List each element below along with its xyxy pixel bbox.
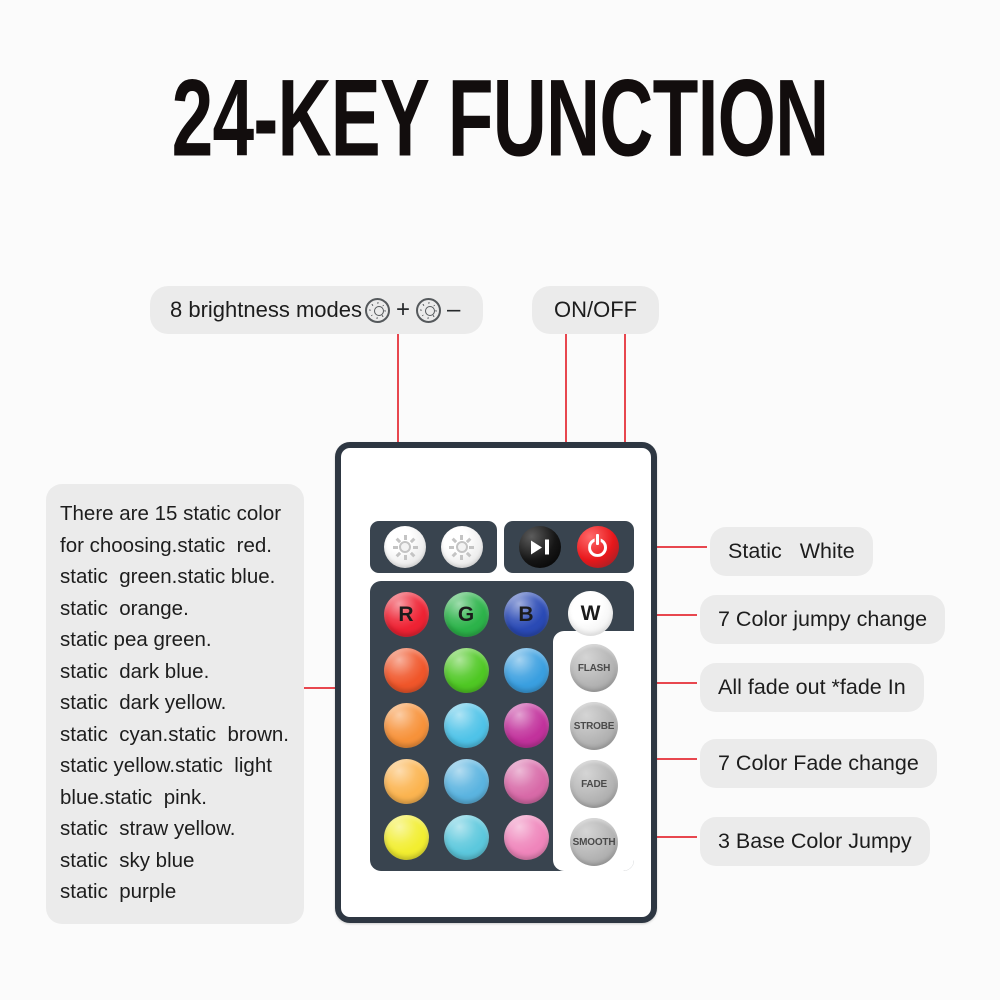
minus-sign: – [444,297,463,323]
callout-line: static cyan.static brown. [60,719,290,751]
color-key-cell: G [436,587,496,643]
power-icon-stem [596,534,599,545]
color-key-cell [436,698,496,754]
leader-line-onoff-a [565,334,567,442]
play-pause-key[interactable] [519,526,561,568]
color-key-cell [376,754,436,810]
flash-key[interactable]: FLASH [570,644,618,692]
color-key-cell [496,643,556,699]
callout-line: static dark blue. [60,656,290,688]
leader-line-onoff-b [624,334,626,442]
leader-line-7-color-fade [655,758,697,760]
leader-line-3-base-color-jumpy [655,836,697,838]
color-key-cell [436,809,496,865]
callout-static-colors: There are 15 static color for choosing.s… [46,484,304,924]
strobe-key[interactable]: STROBE [570,702,618,750]
color-key-straw-yellow[interactable] [384,759,429,804]
power-key[interactable] [577,526,619,568]
leader-line-brightness [397,334,399,442]
color-key-cell [376,643,436,699]
callout-line: static purple [60,876,290,908]
mode-key-column: FLASH STROBE FADE SMOOTH [563,644,625,866]
color-key-cell [496,698,556,754]
color-key-yellow[interactable] [384,815,429,860]
color-key-white[interactable]: W [568,591,613,636]
callout-line: There are 15 static color [60,498,290,530]
color-key-cell [376,809,436,865]
color-key-cell [376,698,436,754]
color-key-cell: R [376,587,436,643]
fade-key[interactable]: FADE [570,760,618,808]
callout-all-fade: All fade out *fade In [700,663,924,712]
color-key-sky-blue[interactable] [444,815,489,860]
color-key-red[interactable]: R [384,592,429,637]
color-key-cyan[interactable] [444,703,489,748]
color-key-pink[interactable] [504,815,549,860]
callout-line: static sky blue [60,845,290,877]
color-key-cell [496,809,556,865]
color-key-orange-red[interactable] [384,648,429,693]
callout-line: blue.static pink. [60,782,290,814]
color-key-cell [436,754,496,810]
leader-line-static-white [655,546,707,548]
brightness-key-panel [370,521,497,573]
callout-line: static dark yellow. [60,687,290,719]
play-pause-icon [531,540,549,555]
callout-line: static straw yellow. [60,813,290,845]
callout-line: static green.static blue. [60,561,290,593]
color-key-dark-blue[interactable] [504,648,549,693]
callout-static-white: Static White [710,527,873,576]
callout-3-base-color-jumpy: 3 Base Color Jumpy [700,817,930,866]
callout-7-color-jumpy: 7 Color jumpy change [700,595,945,644]
callout-line: for choosing.static red. [60,530,290,562]
callout-line: static pea green. [60,624,290,656]
color-key-cell: B [496,587,556,643]
color-key-light-blue[interactable] [444,759,489,804]
color-key-cell [496,754,556,810]
color-key-magenta[interactable] [504,759,549,804]
callout-line: static orange. [60,593,290,625]
leader-line-all-fade [655,682,697,684]
color-key-blue[interactable]: B [504,592,549,637]
color-key-purple[interactable] [504,703,549,748]
callout-7-color-fade: 7 Color Fade change [700,739,937,788]
color-key-orange[interactable] [384,703,429,748]
smooth-key[interactable]: SMOOTH [570,818,618,866]
callout-line: static yellow.static light [60,750,290,782]
color-key-grid: R G B [376,587,556,865]
callout-brightness-modes: 8 brightness modes + – [150,286,483,334]
brightness-up-key[interactable] [384,526,426,568]
color-key-pea-green[interactable] [444,648,489,693]
callout-on-off: ON/OFF [532,286,659,334]
plus-sign: + [393,297,413,323]
sun-icon [392,534,418,560]
color-key-green[interactable]: G [444,592,489,637]
power-key-panel [504,521,634,573]
brightness-down-icon [416,298,441,323]
sun-icon [449,534,475,560]
brightness-up-icon [365,298,390,323]
callout-brightness-text: 8 brightness modes [170,297,362,323]
brightness-down-key[interactable] [441,526,483,568]
page-title: 24-KEY FUNCTION [110,62,890,176]
color-key-cell [436,643,496,699]
remote-control: R G B W FLASH STROBE FADE SMOOTH [335,442,657,923]
leader-line-7-color-jumpy [655,614,697,616]
